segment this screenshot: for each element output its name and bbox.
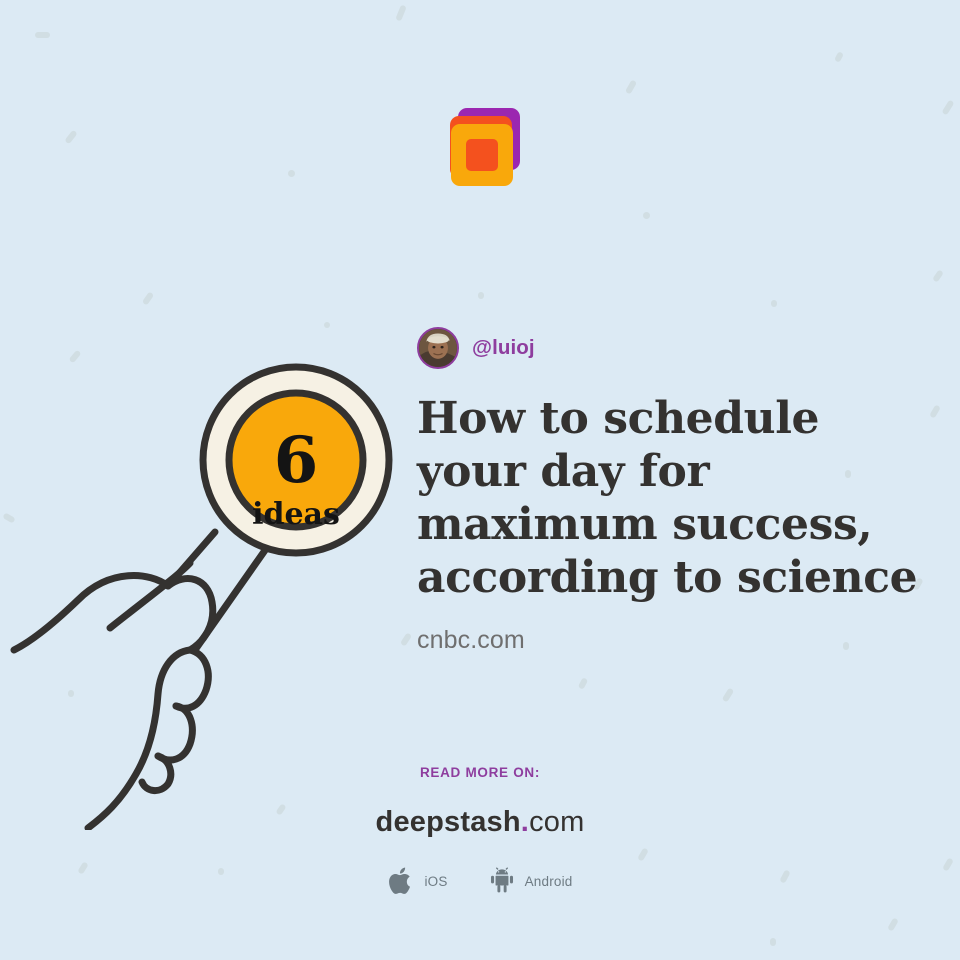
brand-wordmark[interactable]: deepstash.com [0, 806, 960, 839]
article-content: @luioj How to schedule your day for maxi… [417, 322, 927, 655]
page-title: How to schedule your day for maximum suc… [417, 392, 922, 604]
app-store-row: iOS Android [0, 865, 960, 897]
confetti-speck [64, 130, 77, 145]
hand-thumb [14, 576, 168, 650]
footer: READ MORE ON: deepstash.com iOS [0, 765, 960, 897]
apple-icon [387, 865, 415, 897]
confetti-speck [929, 404, 941, 418]
confetti-speck [395, 4, 407, 21]
confetti-speck [142, 291, 154, 305]
author-row[interactable]: @luioj [417, 322, 927, 374]
deepstash-logo [436, 104, 528, 196]
confetti-speck [324, 322, 330, 328]
brand-name: deepstash [376, 806, 521, 838]
confetti-speck [478, 292, 484, 299]
confetti-speck [941, 100, 954, 116]
hand-finger-2 [158, 706, 192, 760]
hand-index [110, 563, 190, 628]
ios-label: iOS [424, 874, 447, 889]
confetti-speck [834, 51, 844, 63]
brand-tld: com [529, 806, 584, 838]
badge-count: 6 [274, 423, 319, 498]
android-icon [488, 865, 516, 897]
confetti-speck [578, 677, 588, 690]
hand-knuckle [168, 579, 213, 650]
confetti-speck [625, 79, 637, 94]
article-source: cnbc.com [417, 626, 927, 655]
confetti-speck [288, 170, 295, 177]
confetti-speck [771, 300, 777, 307]
confetti-speck [35, 32, 50, 38]
confetti-speck [770, 938, 776, 946]
brand-dot: . [521, 806, 529, 838]
avatar[interactable] [417, 327, 459, 369]
magnifier-illustration: 6 ideas [0, 350, 420, 830]
ios-store-link[interactable]: iOS [387, 865, 447, 897]
read-more-label: READ MORE ON: [0, 765, 960, 780]
confetti-speck [887, 917, 899, 931]
confetti-speck [643, 212, 650, 219]
android-store-link[interactable]: Android [488, 865, 573, 897]
hand-finger-1 [176, 650, 208, 708]
android-label: Android [525, 874, 573, 889]
confetti-speck [932, 269, 944, 282]
deepstash-share-card: 6 ideas @luioj How to schedule your d [0, 0, 960, 960]
author-handle[interactable]: @luioj [472, 336, 535, 360]
confetti-speck [722, 687, 735, 702]
badge-unit: ideas [252, 497, 340, 532]
